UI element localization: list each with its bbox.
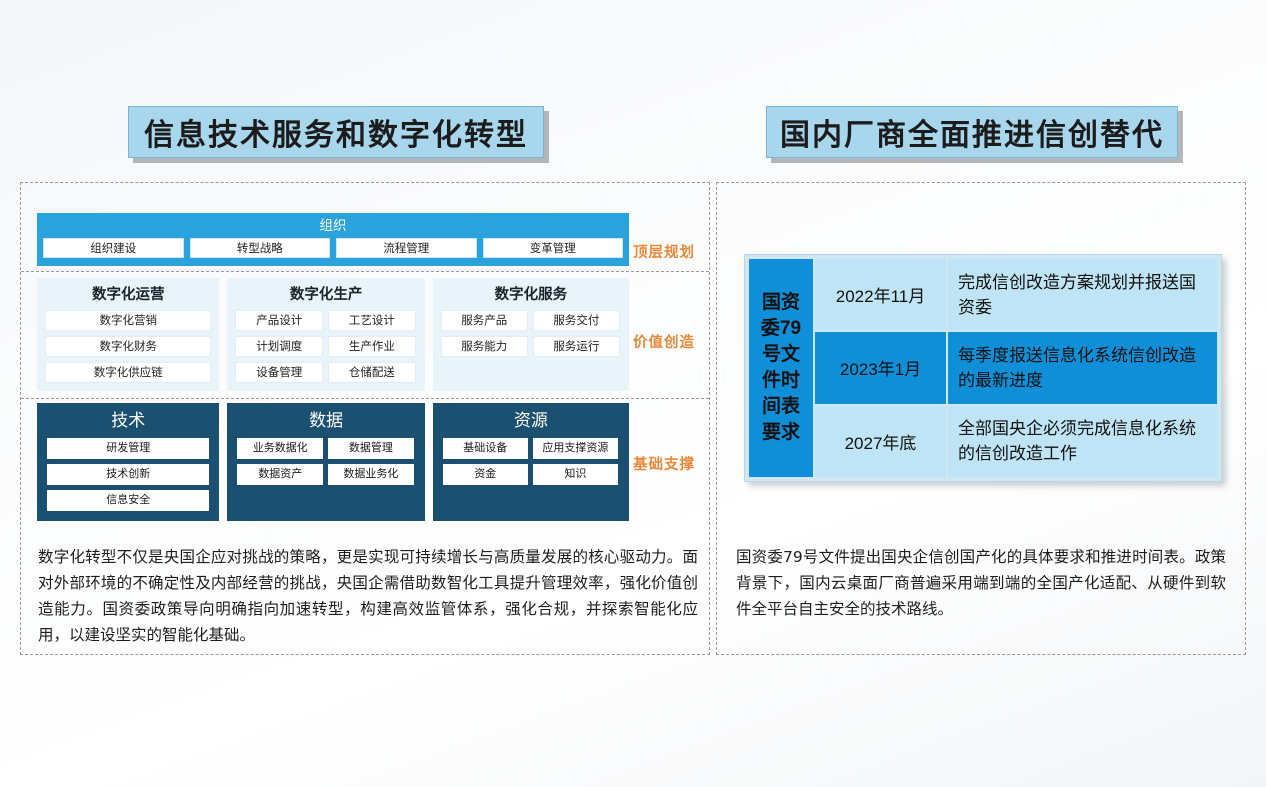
policy-timeline-table: 国资委79号文件时间表要求 2022年11月 完成信创改造方案规划并报送国资委 … — [744, 254, 1222, 482]
value-column-services: 数字化服务 服务产品 服务交付 服务能力 服务运行 — [433, 278, 629, 391]
timeline-date: 2022年11月 — [815, 259, 948, 330]
capability-item[interactable]: 资金 — [443, 464, 528, 485]
capability-item[interactable]: 计划调度 — [235, 336, 323, 357]
capability-item[interactable]: 变革管理 — [483, 238, 624, 258]
capability-item[interactable]: 研发管理 — [47, 438, 209, 459]
capability-item[interactable]: 数字化供应链 — [45, 362, 211, 383]
capability-item[interactable]: 服务运行 — [533, 336, 620, 357]
slide-canvas: 信息技术服务和数字化转型 国内厂商全面推进信创替代 顶层规划 价值创造 基础支撑… — [0, 0, 1266, 787]
value-column-production: 数字化生产 产品设计 工艺设计 计划调度 生产作业 设备管理 仓储配送 — [227, 278, 424, 391]
value-column-title: 数字化生产 — [235, 284, 416, 310]
tier-foundation: 技术 研发管理 技术创新 信息安全 数据 业务数据化 数据管理 数据资产 数据业… — [37, 403, 629, 521]
capability-item[interactable]: 生产作业 — [328, 336, 416, 357]
timeline-date: 2023年1月 — [815, 332, 948, 403]
capability-item[interactable]: 业务数据化 — [237, 438, 323, 459]
capability-item[interactable]: 工艺设计 — [328, 310, 416, 331]
foundation-column-data: 数据 业务数据化 数据管理 数据资产 数据业务化 — [227, 403, 424, 521]
table-row[interactable]: 2027年底 全部国央企必须完成信息化系统的信创改造工作 — [815, 404, 1217, 477]
foundation-column-resources: 资源 基础设备 应用支撑资源 资金 知识 — [433, 403, 629, 521]
capability-item[interactable]: 数据管理 — [328, 438, 414, 459]
capability-item[interactable]: 仓储配送 — [328, 362, 416, 383]
capability-item[interactable]: 基础设备 — [443, 438, 528, 459]
timeline-requirement: 全部国央企必须完成信息化系统的信创改造工作 — [948, 406, 1217, 477]
foundation-column-title: 资源 — [443, 408, 619, 438]
value-column-operations: 数字化运营 数字化营销 数字化财务 数字化供应链 — [37, 278, 219, 391]
tier-organization: 组织 组织建设 转型战略 流程管理 变革管理 — [37, 213, 629, 266]
foundation-column-title: 技术 — [47, 408, 209, 438]
capability-item[interactable]: 知识 — [533, 464, 618, 485]
left-summary-paragraph: 数字化转型不仅是央国企应对挑战的策略，更是实现可持续增长与高质量发展的核心驱动力… — [38, 544, 698, 648]
foundation-column-items: 业务数据化 数据管理 数据资产 数据业务化 — [237, 438, 414, 485]
capability-item[interactable]: 设备管理 — [235, 362, 323, 383]
capability-item[interactable]: 数据业务化 — [328, 464, 414, 485]
timeline-rows: 2022年11月 完成信创改造方案规划并报送国资委 2023年1月 每季度报送信… — [815, 259, 1217, 477]
timeline-header-cell: 国资委79号文件时间表要求 — [749, 259, 815, 477]
capability-item[interactable]: 服务产品 — [441, 310, 528, 331]
capability-item[interactable]: 服务能力 — [441, 336, 528, 357]
table-row[interactable]: 2023年1月 每季度报送信息化系统信创改造的最新进度 — [815, 330, 1217, 403]
right-summary-paragraph: 国资委79号文件提出国央企信创国产化的具体要求和推进时间表。政策背景下，国内云桌… — [736, 544, 1226, 622]
value-column-items: 产品设计 工艺设计 计划调度 生产作业 设备管理 仓储配送 — [235, 310, 416, 383]
timeline-table-inner: 国资委79号文件时间表要求 2022年11月 完成信创改造方案规划并报送国资委 … — [749, 259, 1217, 477]
capability-diagram: 组织 组织建设 转型战略 流程管理 变革管理 数字化运营 数字化营销 数字化财务… — [37, 213, 629, 521]
right-section-title: 国内厂商全面推进信创替代 — [766, 106, 1178, 158]
tier-organization-items: 组织建设 转型战略 流程管理 变革管理 — [43, 238, 623, 258]
tier-label-value-creation: 价值创造 — [633, 331, 695, 352]
capability-item[interactable]: 技术创新 — [47, 464, 209, 485]
capability-item[interactable]: 服务交付 — [533, 310, 620, 331]
value-column-items: 数字化营销 数字化财务 数字化供应链 — [45, 310, 211, 383]
timeline-date: 2027年底 — [815, 406, 948, 477]
capability-item[interactable]: 流程管理 — [336, 238, 477, 258]
capability-item[interactable]: 转型战略 — [190, 238, 331, 258]
capability-item[interactable]: 数字化营销 — [45, 310, 211, 331]
foundation-column-items: 研发管理 技术创新 信息安全 — [47, 438, 209, 511]
capability-item[interactable]: 组织建设 — [43, 238, 184, 258]
tier-label-top-planning: 顶层规划 — [633, 241, 695, 262]
foundation-column-title: 数据 — [237, 408, 414, 438]
table-row[interactable]: 2022年11月 完成信创改造方案规划并报送国资委 — [815, 259, 1217, 330]
capability-item[interactable]: 信息安全 — [47, 490, 209, 511]
capability-item[interactable]: 数据资产 — [237, 464, 323, 485]
foundation-column-items: 基础设备 应用支撑资源 资金 知识 — [443, 438, 619, 485]
tier-label-foundation: 基础支撑 — [633, 453, 695, 474]
tier-value-creation: 数字化运营 数字化营销 数字化财务 数字化供应链 数字化生产 产品设计 工艺设计… — [37, 278, 629, 391]
timeline-requirement: 完成信创改造方案规划并报送国资委 — [948, 259, 1217, 330]
foundation-column-technology: 技术 研发管理 技术创新 信息安全 — [37, 403, 219, 521]
tier-organization-title: 组织 — [43, 217, 623, 238]
capability-item[interactable]: 应用支撑资源 — [533, 438, 618, 459]
value-column-items: 服务产品 服务交付 服务能力 服务运行 — [441, 310, 621, 357]
value-column-title: 数字化运营 — [45, 284, 211, 310]
capability-item[interactable]: 产品设计 — [235, 310, 323, 331]
left-section-title: 信息技术服务和数字化转型 — [128, 106, 544, 158]
timeline-requirement: 每季度报送信息化系统信创改造的最新进度 — [948, 332, 1217, 403]
value-column-title: 数字化服务 — [441, 284, 621, 310]
capability-item[interactable]: 数字化财务 — [45, 336, 211, 357]
